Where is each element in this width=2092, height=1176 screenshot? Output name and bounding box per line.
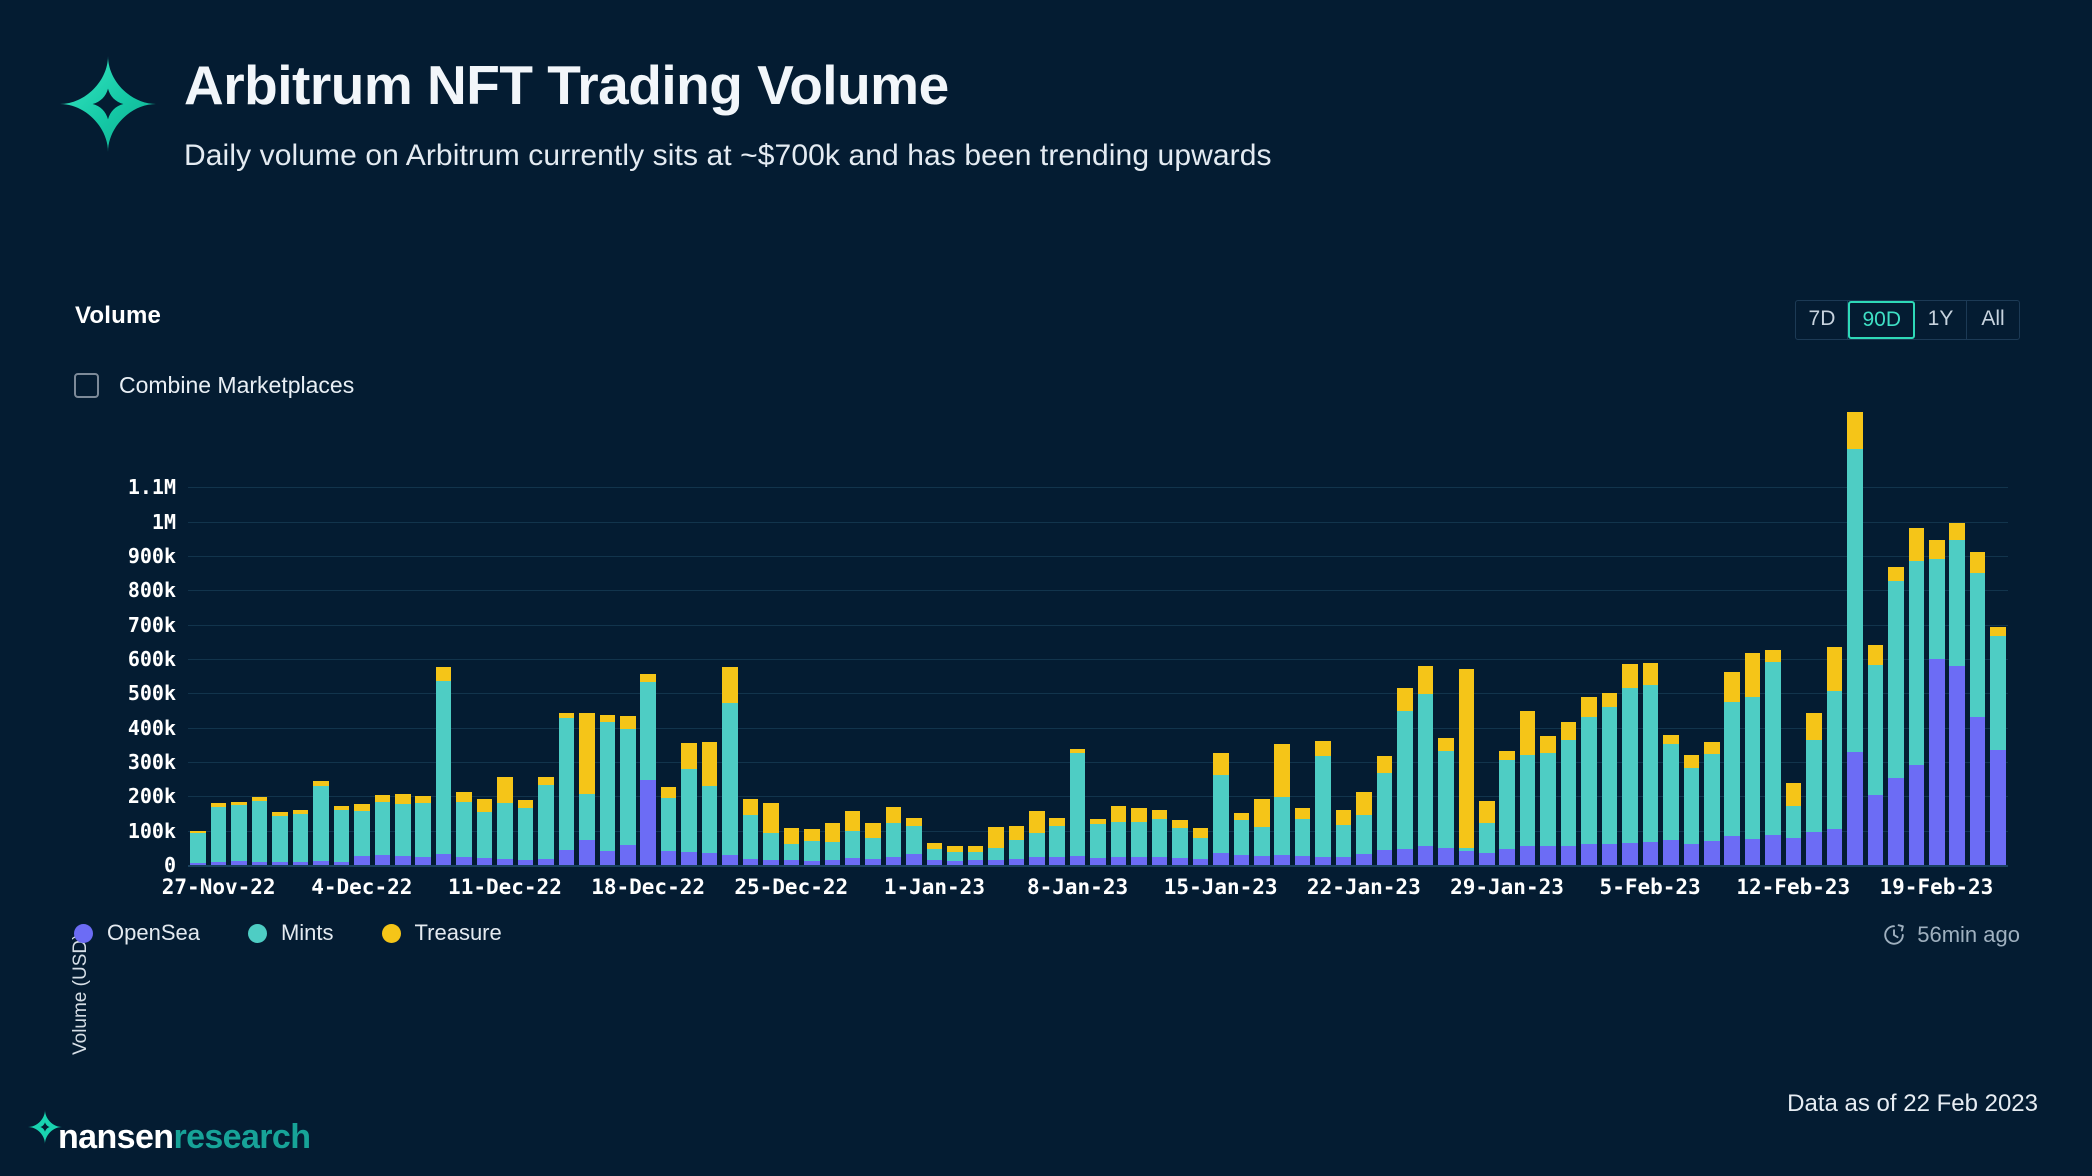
bar-segment-mints[interactable]: [497, 803, 513, 859]
bar-segment-treasure[interactable]: [988, 827, 1004, 848]
bar-segment-mints[interactable]: [784, 844, 800, 860]
bar-slot[interactable]: [618, 470, 638, 865]
stacked-bar[interactable]: [190, 831, 206, 865]
stacked-bar[interactable]: [334, 806, 350, 865]
stacked-bar[interactable]: [1213, 753, 1229, 865]
bar-segment-treasure[interactable]: [1520, 711, 1536, 755]
bar-slot[interactable]: [249, 470, 269, 865]
bar-segment-opensea[interactable]: [1438, 848, 1454, 865]
bar-segment-mints[interactable]: [640, 682, 656, 780]
bar-segment-treasure[interactable]: [1868, 645, 1884, 666]
stacked-bar[interactable]: [988, 827, 1004, 865]
bar-segment-mints[interactable]: [1356, 815, 1372, 854]
stacked-bar[interactable]: [313, 781, 329, 865]
bar-slot[interactable]: [843, 470, 863, 865]
bar-slot[interactable]: [1988, 470, 2008, 865]
bar-slot[interactable]: [1108, 470, 1128, 865]
stacked-bar[interactable]: [456, 792, 472, 865]
bar-segment-mints[interactable]: [1704, 754, 1720, 841]
bar-slot[interactable]: [1824, 470, 1844, 865]
bar-segment-treasure[interactable]: [1602, 693, 1618, 707]
bar-slot[interactable]: [290, 470, 310, 865]
bar-slot[interactable]: [1640, 470, 1660, 865]
bar-slot[interactable]: [679, 470, 699, 865]
bar-segment-opensea[interactable]: [1336, 857, 1352, 865]
bar-slot[interactable]: [965, 470, 985, 865]
bar-segment-opensea[interactable]: [1724, 836, 1740, 865]
range-button-1y[interactable]: 1Y: [1915, 301, 1967, 339]
bar-segment-opensea[interactable]: [1234, 855, 1250, 865]
bar-segment-opensea[interactable]: [702, 853, 718, 865]
bar-segment-treasure[interactable]: [1356, 792, 1372, 815]
stacked-bar[interactable]: [1418, 666, 1434, 865]
stacked-bar[interactable]: [1643, 663, 1659, 865]
bar-slot[interactable]: [1129, 470, 1149, 865]
bar-segment-mints[interactable]: [1561, 740, 1577, 846]
stacked-bar[interactable]: [211, 803, 227, 865]
bar-segment-mints[interactable]: [1315, 756, 1331, 857]
bar-slot[interactable]: [270, 470, 290, 865]
bar-segment-mints[interactable]: [702, 786, 718, 853]
stacked-bar[interactable]: [1193, 828, 1209, 865]
bar-slot[interactable]: [1067, 470, 1087, 865]
bar-slot[interactable]: [1252, 470, 1272, 865]
bar-segment-mints[interactable]: [1009, 840, 1025, 859]
bar-segment-mints[interactable]: [1438, 751, 1454, 848]
bar-segment-opensea[interactable]: [722, 855, 738, 865]
bar-slot[interactable]: [1783, 470, 1803, 865]
stacked-bar[interactable]: [293, 810, 309, 865]
bar-segment-opensea[interactable]: [1663, 840, 1679, 865]
chart-legend[interactable]: OpenSeaMintsTreasure: [74, 920, 550, 946]
stacked-bar[interactable]: [1663, 735, 1679, 866]
bar-slot[interactable]: [433, 470, 453, 865]
bar-segment-treasure[interactable]: [1847, 412, 1863, 450]
bar-segment-treasure[interactable]: [1111, 806, 1127, 822]
bar-segment-mints[interactable]: [947, 852, 963, 861]
bar-slot[interactable]: [372, 470, 392, 865]
bar-segment-treasure[interactable]: [743, 799, 759, 815]
bar-slot[interactable]: [822, 470, 842, 865]
bar-segment-opensea[interactable]: [1765, 835, 1781, 865]
stacked-bar[interactable]: [1724, 672, 1740, 865]
bar-slot[interactable]: [536, 470, 556, 865]
bar-segment-opensea[interactable]: [436, 854, 452, 865]
bar-segment-mints[interactable]: [845, 831, 861, 858]
bar-segment-treasure[interactable]: [1418, 666, 1434, 693]
bar-slot[interactable]: [393, 470, 413, 865]
stacked-bar[interactable]: [1581, 697, 1597, 865]
bar-segment-treasure[interactable]: [1724, 672, 1740, 702]
bar-segment-mints[interactable]: [865, 838, 881, 859]
bar-slot[interactable]: [1579, 470, 1599, 865]
bar-slot[interactable]: [1517, 470, 1537, 865]
bar-slot[interactable]: [454, 470, 474, 865]
bar-segment-opensea[interactable]: [1254, 856, 1270, 865]
bar-slot[interactable]: [208, 470, 228, 865]
bar-segment-treasure[interactable]: [1499, 751, 1515, 761]
bar-segment-treasure[interactable]: [886, 807, 902, 823]
bar-slot[interactable]: [229, 470, 249, 865]
bar-segment-mints[interactable]: [1745, 697, 1761, 839]
stacked-bar[interactable]: [559, 713, 575, 865]
bar-segment-mints[interactable]: [1602, 707, 1618, 844]
stacked-bar[interactable]: [1274, 744, 1290, 865]
bar-slot[interactable]: [802, 470, 822, 865]
bar-slot[interactable]: [1231, 470, 1251, 865]
stacked-bar[interactable]: [886, 807, 902, 865]
bar-segment-mints[interactable]: [988, 848, 1004, 860]
bar-segment-treasure[interactable]: [1622, 664, 1638, 689]
bar-segment-treasure[interactable]: [579, 713, 595, 794]
bar-segment-treasure[interactable]: [1193, 828, 1209, 838]
bar-segment-opensea[interactable]: [1847, 752, 1863, 865]
bar-segment-treasure[interactable]: [1909, 528, 1925, 561]
bar-slot[interactable]: [699, 470, 719, 865]
bar-segment-mints[interactable]: [559, 718, 575, 850]
bar-segment-opensea[interactable]: [1356, 854, 1372, 865]
bar-segment-opensea[interactable]: [1172, 858, 1188, 865]
stacked-bar[interactable]: [681, 743, 697, 865]
bar-segment-opensea[interactable]: [1684, 844, 1700, 865]
stacked-bar[interactable]: [1602, 693, 1618, 865]
bar-segment-treasure[interactable]: [497, 777, 513, 802]
bar-segment-mints[interactable]: [620, 729, 636, 845]
bar-segment-mints[interactable]: [518, 808, 534, 860]
bar-slot[interactable]: [1497, 470, 1517, 865]
bar-segment-treasure[interactable]: [1254, 799, 1270, 827]
bar-segment-opensea[interactable]: [600, 851, 616, 865]
bar-segment-mints[interactable]: [1336, 825, 1352, 857]
bar-segment-treasure[interactable]: [1827, 647, 1843, 691]
bar-slot[interactable]: [1906, 470, 1926, 865]
bar-slot[interactable]: [904, 470, 924, 865]
bar-segment-mints[interactable]: [1990, 636, 2006, 749]
bar-segment-treasure[interactable]: [1152, 810, 1168, 819]
bar-segment-mints[interactable]: [313, 786, 329, 861]
stacked-bar[interactable]: [1929, 540, 1945, 865]
stacked-bar[interactable]: [272, 812, 288, 865]
range-button-7d[interactable]: 7D: [1796, 301, 1848, 339]
bar-segment-treasure[interactable]: [1172, 820, 1188, 828]
stacked-bar[interactable]: [518, 800, 534, 865]
stacked-bar[interactable]: [784, 828, 800, 865]
bar-slot[interactable]: [577, 470, 597, 865]
stacked-bar[interactable]: [620, 716, 636, 865]
time-range-selector[interactable]: 7D90D1YAll: [1795, 300, 2020, 340]
bar-slot[interactable]: [1722, 470, 1742, 865]
bar-segment-mints[interactable]: [1418, 694, 1434, 846]
stacked-bar[interactable]: [395, 794, 411, 865]
bar-segment-mints[interactable]: [1377, 773, 1393, 850]
stacked-bar[interactable]: [252, 797, 268, 865]
bar-slot[interactable]: [1845, 470, 1865, 865]
bar-segment-mints[interactable]: [1499, 760, 1515, 848]
stacked-bar[interactable]: [1049, 818, 1065, 865]
bar-slot[interactable]: [1967, 470, 1987, 865]
bar-segment-opensea[interactable]: [661, 851, 677, 865]
bar-segment-treasure[interactable]: [1704, 742, 1720, 754]
bar-segment-opensea[interactable]: [1499, 849, 1515, 865]
bar-segment-treasure[interactable]: [1479, 801, 1495, 823]
bar-segment-treasure[interactable]: [825, 823, 841, 842]
stacked-bar[interactable]: [1295, 808, 1311, 865]
bar-slot[interactable]: [986, 470, 1006, 865]
stacked-bar[interactable]: [1009, 826, 1025, 865]
stacked-bar[interactable]: [1806, 713, 1822, 865]
stacked-bar[interactable]: [1540, 736, 1556, 865]
bar-segment-opensea[interactable]: [1990, 750, 2006, 865]
bar-slot[interactable]: [1599, 470, 1619, 865]
bar-segment-mints[interactable]: [1111, 822, 1127, 858]
stacked-bar[interactable]: [1765, 650, 1781, 865]
stacked-bar[interactable]: [1131, 808, 1147, 865]
bar-slot[interactable]: [1333, 470, 1353, 865]
bar-segment-opensea[interactable]: [1581, 844, 1597, 865]
bar-slot[interactable]: [1170, 470, 1190, 865]
bar-segment-opensea[interactable]: [906, 854, 922, 865]
bar-segment-opensea[interactable]: [1949, 666, 1965, 865]
bar-segment-opensea[interactable]: [559, 850, 575, 865]
bar-segment-treasure[interactable]: [1029, 811, 1045, 833]
bar-segment-opensea[interactable]: [1049, 857, 1065, 865]
bar-segment-mints[interactable]: [825, 842, 841, 860]
bar-segment-mints[interactable]: [477, 812, 493, 858]
bar-segment-opensea[interactable]: [1520, 846, 1536, 865]
bar-segment-opensea[interactable]: [1131, 857, 1147, 865]
bar-segment-opensea[interactable]: [1315, 857, 1331, 865]
stacked-bar[interactable]: [1070, 749, 1086, 865]
bar-segment-treasure[interactable]: [518, 800, 534, 807]
bar-segment-treasure[interactable]: [1315, 741, 1331, 756]
bar-segment-treasure[interactable]: [1888, 567, 1904, 581]
bar-slot[interactable]: [1947, 470, 1967, 865]
bar-segment-treasure[interactable]: [477, 799, 493, 812]
bar-segment-treasure[interactable]: [804, 829, 820, 841]
bar-segment-opensea[interactable]: [1970, 717, 1986, 865]
bar-segment-treasure[interactable]: [845, 811, 861, 831]
stacked-bar[interactable]: [1090, 819, 1106, 865]
bar-slot[interactable]: [1558, 470, 1578, 865]
stacked-bar[interactable]: [845, 811, 861, 865]
bar-segment-mints[interactable]: [1152, 819, 1168, 857]
bar-segment-opensea[interactable]: [1090, 858, 1106, 865]
stacked-bar[interactable]: [1868, 645, 1884, 865]
bar-segment-treasure[interactable]: [620, 716, 636, 729]
bar-segment-mints[interactable]: [927, 849, 943, 860]
stacked-bar[interactable]: [497, 777, 513, 865]
stacked-bar[interactable]: [1479, 801, 1495, 865]
bar-slot[interactable]: [1292, 470, 1312, 865]
bar-segment-mints[interactable]: [600, 722, 616, 851]
bar-slot[interactable]: [1620, 470, 1640, 865]
bar-segment-treasure[interactable]: [784, 828, 800, 844]
bar-segment-mints[interactable]: [1868, 665, 1884, 795]
range-button-all[interactable]: All: [1967, 301, 2019, 339]
bar-segment-mints[interactable]: [1643, 685, 1659, 843]
stacked-bar[interactable]: [538, 777, 554, 865]
stacked-bar[interactable]: [1622, 664, 1638, 865]
bar-segment-treasure[interactable]: [1234, 813, 1250, 820]
bar-segment-opensea[interactable]: [620, 845, 636, 865]
bar-segment-opensea[interactable]: [681, 852, 697, 865]
bar-segment-treasure[interactable]: [1213, 753, 1229, 776]
bar-slot[interactable]: [863, 470, 883, 865]
bar-segment-treasure[interactable]: [640, 674, 656, 682]
bar-segment-opensea[interactable]: [1111, 857, 1127, 865]
bar-segment-treasure[interactable]: [1377, 756, 1393, 772]
stacked-bar[interactable]: [1397, 688, 1413, 865]
bar-segment-opensea[interactable]: [1806, 832, 1822, 865]
bar-segment-opensea[interactable]: [1929, 659, 1945, 865]
combine-marketplaces-checkbox[interactable]: [74, 373, 99, 398]
bar-segment-opensea[interactable]: [1622, 843, 1638, 865]
bar-segment-opensea[interactable]: [1786, 838, 1802, 865]
bar-segment-mints[interactable]: [415, 803, 431, 858]
bar-segment-mints[interactable]: [1765, 662, 1781, 835]
bar-segment-mints[interactable]: [681, 769, 697, 852]
bar-segment-mints[interactable]: [1234, 820, 1250, 855]
bar-segment-treasure[interactable]: [1009, 826, 1025, 840]
stacked-bar[interactable]: [702, 742, 718, 865]
bar-slot[interactable]: [658, 470, 678, 865]
bar-slot[interactable]: [1088, 470, 1108, 865]
bar-slot[interactable]: [1538, 470, 1558, 865]
bar-segment-mints[interactable]: [1622, 688, 1638, 843]
bar-segment-mints[interactable]: [906, 826, 922, 854]
bar-segment-mints[interactable]: [395, 804, 411, 856]
legend-item-treasure[interactable]: Treasure: [382, 920, 502, 946]
stacked-bar[interactable]: [375, 795, 391, 865]
bar-slot[interactable]: [1661, 470, 1681, 865]
bar-segment-mints[interactable]: [1970, 573, 1986, 717]
bar-segment-treasure[interactable]: [1049, 818, 1065, 826]
bar-segment-mints[interactable]: [1131, 822, 1147, 856]
stacked-bar[interactable]: [804, 829, 820, 865]
stacked-bar[interactable]: [436, 667, 452, 865]
stacked-bar[interactable]: [579, 713, 595, 865]
bar-segment-mints[interactable]: [1786, 806, 1802, 838]
bar-segment-mints[interactable]: [293, 814, 309, 862]
bar-segment-mints[interactable]: [1090, 824, 1106, 858]
bar-slot[interactable]: [1190, 470, 1210, 865]
bar-segment-mints[interactable]: [1724, 702, 1740, 836]
bar-segment-treasure[interactable]: [1765, 650, 1781, 662]
bar-segment-mints[interactable]: [334, 810, 350, 862]
stacked-bar[interactable]: [1377, 756, 1393, 865]
stacked-bar[interactable]: [1970, 552, 1986, 865]
bar-segment-opensea[interactable]: [579, 840, 595, 865]
bar-segment-mints[interactable]: [1847, 449, 1863, 751]
bar-segment-mints[interactable]: [375, 802, 391, 855]
bar-segment-mints[interactable]: [886, 823, 902, 857]
stacked-bar[interactable]: [1172, 820, 1188, 865]
bar-segment-mints[interactable]: [1172, 828, 1188, 858]
stacked-bar[interactable]: [1949, 523, 1965, 865]
bar-slot[interactable]: [1374, 470, 1394, 865]
bar-slot[interactable]: [1865, 470, 1885, 865]
bar-segment-treasure[interactable]: [763, 803, 779, 833]
bar-segment-treasure[interactable]: [375, 795, 391, 802]
bar-segment-treasure[interactable]: [865, 823, 881, 838]
stacked-bar[interactable]: [968, 846, 984, 865]
bar-segment-treasure[interactable]: [1990, 627, 2006, 637]
bar-segment-treasure[interactable]: [1643, 663, 1659, 684]
bar-slot[interactable]: [945, 470, 965, 865]
bar-segment-opensea[interactable]: [886, 857, 902, 865]
bar-segment-mints[interactable]: [1049, 826, 1065, 858]
bar-segment-mints[interactable]: [763, 833, 779, 860]
bar-slot[interactable]: [1456, 470, 1476, 865]
bar-slot[interactable]: [1354, 470, 1374, 865]
stacked-bar[interactable]: [722, 667, 738, 865]
bar-slot[interactable]: [638, 470, 658, 865]
range-button-90d[interactable]: 90D: [1848, 301, 1915, 339]
bar-segment-mints[interactable]: [1254, 827, 1270, 857]
bar-slot[interactable]: [1149, 470, 1169, 865]
bar-slot[interactable]: [1047, 470, 1067, 865]
bar-segment-treasure[interactable]: [906, 818, 922, 826]
stacked-bar[interactable]: [1459, 669, 1475, 865]
stacked-bar[interactable]: [1990, 627, 2006, 865]
bar-slot[interactable]: [188, 470, 208, 865]
bar-segment-mints[interactable]: [538, 785, 554, 859]
bar-slot[interactable]: [556, 470, 576, 865]
bar-segment-opensea[interactable]: [1602, 844, 1618, 865]
stacked-bar[interactable]: [1336, 810, 1352, 865]
stacked-bar[interactable]: [1356, 792, 1372, 865]
bar-segment-treasure[interactable]: [395, 794, 411, 804]
bar-segment-opensea[interactable]: [354, 856, 370, 865]
bar-segment-opensea[interactable]: [1745, 839, 1761, 865]
bar-slot[interactable]: [1702, 470, 1722, 865]
bar-segment-opensea[interactable]: [477, 858, 493, 865]
bar-slot[interactable]: [924, 470, 944, 865]
bar-segment-opensea[interactable]: [1029, 857, 1045, 865]
bar-slot[interactable]: [495, 470, 515, 865]
stacked-bar[interactable]: [825, 823, 841, 865]
bar-segment-mints[interactable]: [1274, 797, 1290, 854]
bar-segment-treasure[interactable]: [1459, 669, 1475, 848]
bar-slot[interactable]: [1681, 470, 1701, 865]
bar-segment-treasure[interactable]: [354, 804, 370, 811]
stacked-bar[interactable]: [1909, 528, 1925, 865]
stacked-bar[interactable]: [1111, 806, 1127, 865]
bar-slot[interactable]: [597, 470, 617, 865]
bar-slot[interactable]: [1313, 470, 1333, 865]
bar-segment-opensea[interactable]: [1561, 846, 1577, 865]
bar-segment-opensea[interactable]: [845, 858, 861, 865]
stacked-bar[interactable]: [640, 674, 656, 865]
stacked-bar[interactable]: [906, 818, 922, 865]
bar-slot[interactable]: [352, 470, 372, 865]
stacked-bar[interactable]: [661, 787, 677, 865]
bar-segment-treasure[interactable]: [1131, 808, 1147, 823]
bar-segment-mints[interactable]: [211, 807, 227, 862]
bar-segment-treasure[interactable]: [1336, 810, 1352, 825]
stacked-bar[interactable]: [1152, 810, 1168, 865]
bar-segment-opensea[interactable]: [1152, 857, 1168, 865]
bar-segment-mints[interactable]: [661, 798, 677, 851]
bar-segment-mints[interactable]: [456, 802, 472, 857]
bar-segment-opensea[interactable]: [1377, 850, 1393, 865]
bar-slot[interactable]: [1211, 470, 1231, 865]
bar-slot[interactable]: [515, 470, 535, 865]
bar-segment-treasure[interactable]: [1438, 738, 1454, 752]
bar-segment-treasure[interactable]: [1949, 523, 1965, 540]
bar-segment-opensea[interactable]: [1868, 795, 1884, 865]
bar-segment-treasure[interactable]: [538, 777, 554, 784]
